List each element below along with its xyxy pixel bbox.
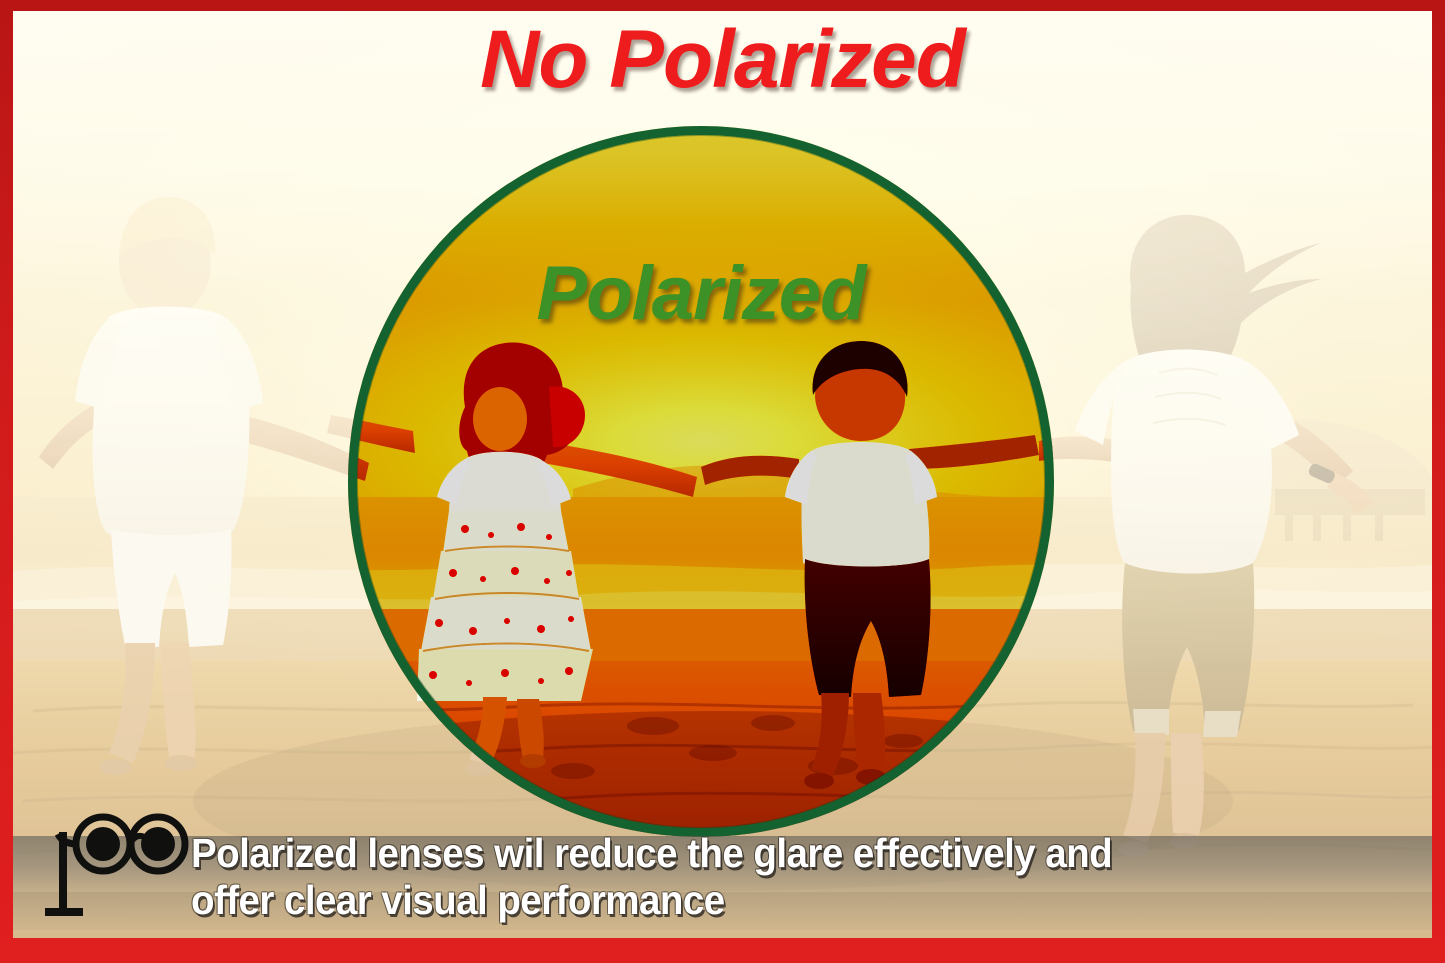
caption-text: Polarized lenses wil reduce the glare ef… bbox=[191, 830, 1352, 924]
caption-line-1: Polarized lenses wil reduce the glare ef… bbox=[191, 830, 1352, 877]
title-polarized: Polarized bbox=[348, 256, 1054, 332]
poster-content: No Polarized Polarized bbox=[13, 11, 1432, 938]
beach-scene-svg-polarized bbox=[348, 126, 1054, 837]
sunglasses-icon bbox=[45, 810, 195, 926]
title-no-polarized: No Polarized bbox=[13, 19, 1432, 101]
polarized-lens-view bbox=[348, 126, 1054, 837]
poster: No Polarized Polarized bbox=[0, 0, 1445, 963]
caption-line-2: offer clear visual performance bbox=[191, 877, 1352, 924]
caption-band: Polarized lenses wil reduce the glare ef… bbox=[13, 828, 1432, 938]
